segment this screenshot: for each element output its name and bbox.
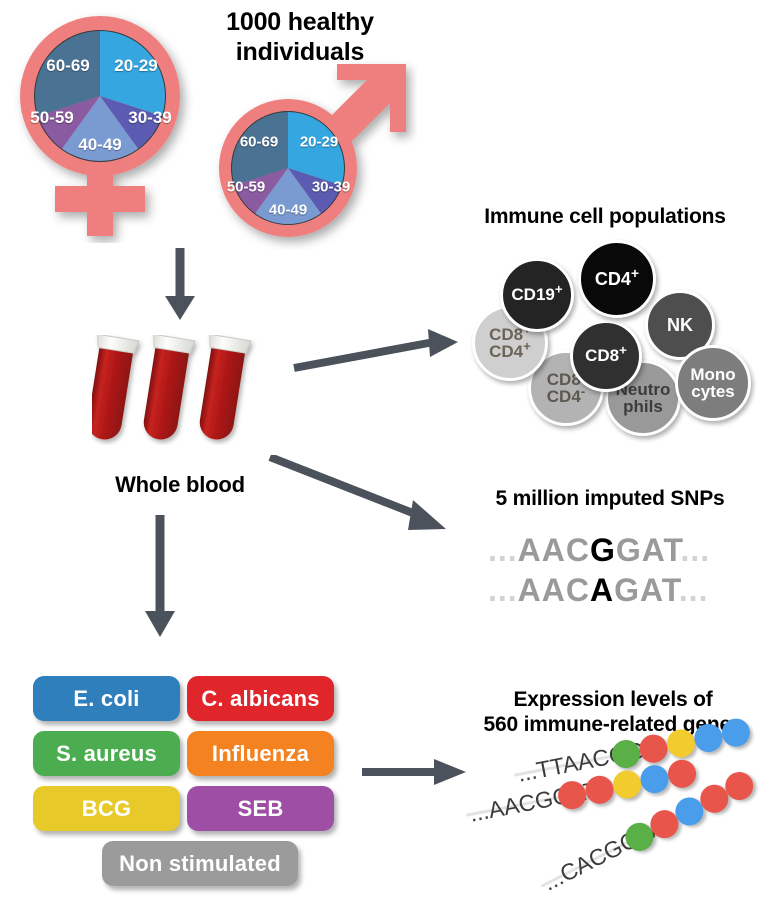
- immune-cell-cd8neg-line1: CD8-: [547, 371, 585, 388]
- strand-2-bead-4: [638, 763, 671, 796]
- male-pie-label-60-69: 60-69: [240, 134, 278, 151]
- stimulus-bcg-label: BCG: [82, 796, 132, 822]
- stimulus-influenza-label: Influenza: [212, 741, 309, 767]
- stimulus-c-albicans[interactable]: C. albicans: [187, 676, 334, 721]
- arrow-cohort-to-blood: [160, 248, 200, 323]
- immune-cell-cd8-label: CD8+: [585, 347, 627, 364]
- immune-cell-cd4[interactable]: CD4+: [578, 240, 656, 318]
- snp2-suffix: ...: [679, 572, 709, 608]
- immune-cell-cd8-cd4-pos[interactable]: CD8+ CD4+: [472, 305, 548, 381]
- snps-title: 5 million imputed SNPs: [455, 487, 765, 512]
- female-pie-label-30-39: 30-39: [128, 108, 171, 128]
- strand-2-bead-5: [666, 757, 699, 790]
- whole-blood-label: Whole blood: [60, 472, 300, 498]
- arrow-blood-to-stimuli: [140, 515, 180, 640]
- immune-cell-cd8-cd4-neg[interactable]: CD8- CD4-: [528, 350, 604, 426]
- snp2-variant: A: [590, 572, 614, 608]
- snp1-right: GAT: [616, 532, 681, 568]
- immune-cell-cd4-label: CD4+: [595, 270, 639, 288]
- immune-cell-cd8pos-line1: CD8+: [489, 326, 531, 343]
- snp-sequence-row-1: ...AACGGAT...: [488, 532, 710, 569]
- male-pie-label-20-29: 20-29: [300, 134, 338, 151]
- male-gender-symbol: 20-29 30-39 40-49 50-59 60-69: [202, 60, 417, 250]
- immune-cell-monocytes-line2: cytes: [691, 383, 734, 400]
- immune-cell-neutrophils-line2: phils: [623, 398, 663, 415]
- cohort-heading-line1: 1000 healthy: [175, 8, 425, 38]
- immune-cell-neutrophils[interactable]: Neutro phils: [605, 360, 681, 436]
- snp1-prefix: ...: [488, 532, 518, 568]
- stimulus-c-albicans-label: C. albicans: [201, 686, 319, 712]
- male-symbol-svg: [202, 60, 417, 250]
- snp1-left: AAC: [518, 532, 590, 568]
- female-pie-label-50-59: 50-59: [30, 108, 73, 128]
- cohort-heading: 1000 healthy individuals: [175, 8, 425, 67]
- snp1-variant: G: [590, 532, 616, 568]
- stimulus-s-aureus-label: S. aureus: [56, 741, 157, 767]
- immune-cell-nk-label: NK: [667, 316, 693, 334]
- male-pie-label-30-39: 30-39: [312, 179, 350, 196]
- immune-cell-monocytes-line1: Mono: [690, 366, 735, 383]
- stimulus-s-aureus[interactable]: S. aureus: [33, 731, 180, 776]
- stimulus-seb-label: SEB: [238, 796, 284, 822]
- blood-tubes-svg: [92, 335, 277, 445]
- stimulus-influenza[interactable]: Influenza: [187, 731, 334, 776]
- immune-cell-cd8neg-line2: CD4-: [547, 388, 585, 405]
- female-pie-label-40-49: 40-49: [78, 135, 121, 155]
- stimulus-non-stimulated[interactable]: Non stimulated: [102, 841, 298, 886]
- immune-cell-monocytes[interactable]: Mono cytes: [675, 345, 751, 421]
- strand-2-bead-3: [611, 768, 644, 801]
- female-pie-label-20-29: 20-29: [114, 56, 157, 76]
- immune-cell-cd19-label: CD19+: [511, 286, 562, 303]
- stimulus-seb[interactable]: SEB: [187, 786, 334, 831]
- snp2-right: GAT: [614, 572, 679, 608]
- stimulus-e-coli[interactable]: E. coli: [33, 676, 180, 721]
- immune-cell-cd8pos-line2: CD4+: [489, 343, 531, 360]
- arrow-blood-to-snps: [268, 455, 468, 545]
- immune-cell-nk[interactable]: NK: [645, 290, 715, 360]
- snp-sequence-row-2: ...AACAGAT...: [488, 572, 708, 609]
- snp2-prefix: ...: [488, 572, 518, 608]
- immune-cell-cd8[interactable]: CD8+: [570, 320, 642, 392]
- female-gender-symbol: 20-29 30-39 40-49 50-59 60-69: [8, 8, 193, 243]
- arrow-blood-to-immune-cells: [292, 325, 462, 380]
- female-pie-label-60-69: 60-69: [46, 56, 89, 76]
- stimulus-non-stimulated-label: Non stimulated: [119, 851, 281, 877]
- figure-canvas: 1000 healthy individuals: [0, 0, 771, 922]
- male-pie-label-50-59: 50-59: [227, 179, 265, 196]
- stimulus-bcg[interactable]: BCG: [33, 786, 180, 831]
- arrow-stimuli-to-expression: [360, 752, 470, 792]
- whole-blood-tubes: [92, 335, 277, 445]
- stimulus-e-coli-label: E. coli: [73, 686, 139, 712]
- snp1-suffix: ...: [681, 532, 711, 568]
- immune-cell-cd19[interactable]: CD19+: [500, 258, 574, 332]
- immune-title: Immune cell populations: [440, 205, 770, 230]
- expression-title-line1: Expression levels of: [455, 688, 771, 713]
- immune-cell-neutrophils-line1: Neutro: [616, 381, 671, 398]
- snp2-left: AAC: [518, 572, 590, 608]
- male-pie-label-40-49: 40-49: [269, 202, 307, 219]
